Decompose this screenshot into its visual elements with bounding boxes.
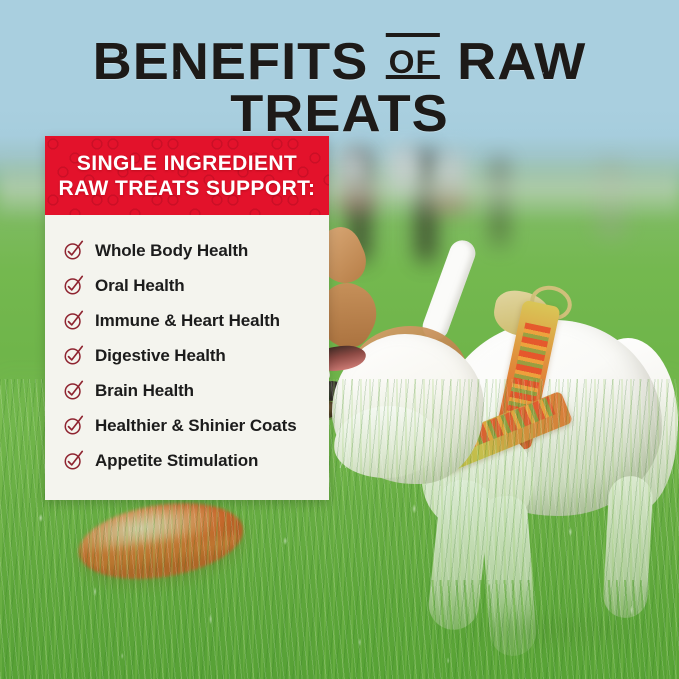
list-item-label: Whole Body Health bbox=[95, 241, 248, 261]
list-item-label: Immune & Heart Health bbox=[95, 311, 280, 331]
list-item-label: Healthier & Shinier Coats bbox=[95, 416, 297, 436]
circle-check-icon bbox=[63, 450, 84, 471]
title-of-word: OF bbox=[384, 44, 441, 80]
list-item-label: Digestive Health bbox=[95, 346, 226, 366]
list-item-label: Brain Health bbox=[95, 381, 194, 401]
circle-check-icon bbox=[63, 415, 84, 436]
list-item: Whole Body Health bbox=[63, 233, 313, 268]
list-item: Brain Health bbox=[63, 373, 313, 408]
circle-check-icon bbox=[63, 240, 84, 261]
list-item-label: Oral Health bbox=[95, 276, 185, 296]
list-item: Immune & Heart Health bbox=[63, 303, 313, 338]
benefits-card-header-text: SINGLE INGREDIENT RAW TREATS SUPPORT: bbox=[57, 151, 317, 201]
header-line-1: SINGLE INGREDIENT bbox=[77, 152, 297, 175]
title-part-1: BENEFITS bbox=[93, 33, 369, 91]
benefits-card: SINGLE INGREDIENT RAW TREATS SUPPORT: Wh… bbox=[45, 136, 329, 500]
list-item-label: Appetite Stimulation bbox=[95, 451, 258, 471]
circle-check-icon bbox=[63, 275, 84, 296]
list-item: Digestive Health bbox=[63, 338, 313, 373]
list-item: Appetite Stimulation bbox=[63, 443, 313, 478]
benefits-list: Whole Body Health Oral Health Immune & H… bbox=[45, 215, 329, 500]
header-line-2: RAW TREATS SUPPORT: bbox=[57, 176, 317, 201]
page-title-text: BENEFITS OF RAW TREATS bbox=[0, 36, 679, 140]
benefits-card-header: SINGLE INGREDIENT RAW TREATS SUPPORT: bbox=[45, 136, 329, 215]
list-item: Oral Health bbox=[63, 268, 313, 303]
list-item: Healthier & Shinier Coats bbox=[63, 408, 313, 443]
infographic-canvas: BENEFITS OF RAW TREATS SINGLE INGREDIENT… bbox=[0, 0, 679, 679]
circle-check-icon bbox=[63, 310, 84, 331]
page-title: BENEFITS OF RAW TREATS bbox=[0, 36, 679, 140]
dog-tail bbox=[419, 237, 479, 344]
circle-check-icon bbox=[63, 380, 84, 401]
circle-check-icon bbox=[63, 345, 84, 366]
